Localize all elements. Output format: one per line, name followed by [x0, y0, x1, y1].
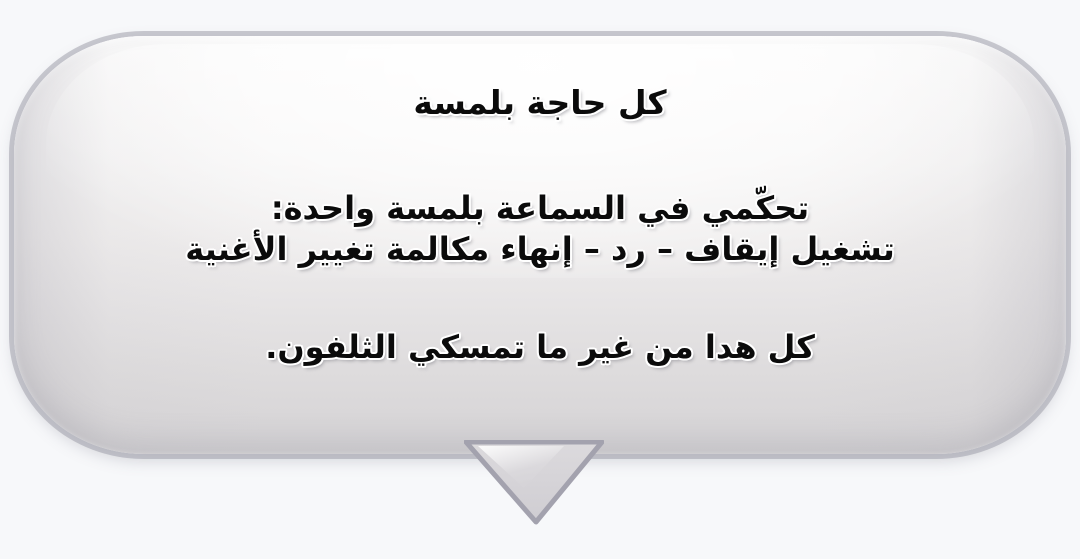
- bubble-closing-line: كل هدا من غير ما تمسكي الثلفون.: [265, 328, 815, 366]
- bubble-headline: كل حاجة بلمسة: [413, 84, 666, 122]
- bubble-paragraph-line-1: تحكّمي في السماعة بلمسة واحدة:: [185, 188, 895, 229]
- speech-bubble-tail: [464, 440, 604, 532]
- speech-bubble: كل حاجة بلمسة تحكّمي في السماعة بلمسة وا…: [14, 36, 1066, 454]
- bubble-paragraph: تحكّمي في السماعة بلمسة واحدة: تشغيل إيق…: [185, 188, 895, 270]
- screenshot-canvas: كل حاجة بلمسة تحكّمي في السماعة بلمسة وا…: [0, 0, 1080, 559]
- bubble-paragraph-line-2: تشغيل إيقاف – رد – إنهاء مكالمة تغيير ال…: [185, 229, 895, 270]
